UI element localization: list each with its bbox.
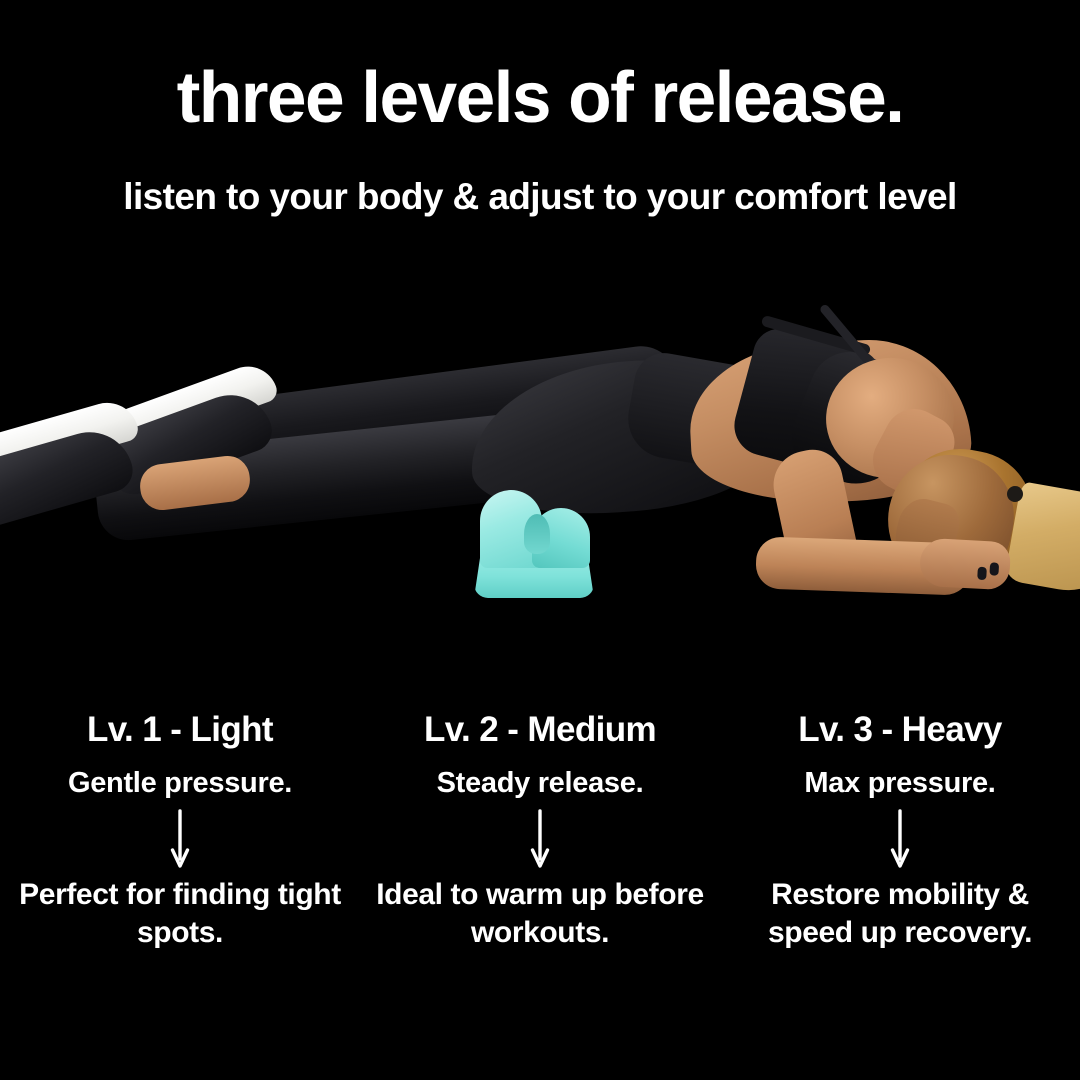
teal-massage-tool	[474, 492, 594, 598]
level-2-title: Lv. 2 - Medium	[360, 712, 720, 747]
level-1-arrow-wrap	[0, 798, 360, 876]
hand	[919, 538, 1011, 591]
level-2-subtitle: Steady release.	[360, 747, 720, 798]
hero-photo	[0, 300, 1080, 630]
level-1-subtitle: Gentle pressure.	[0, 747, 360, 798]
level-2-detail: Ideal to warm up before workouts.	[360, 876, 720, 953]
level-column-2: Lv. 2 - Medium Steady release. Ideal to …	[360, 712, 720, 953]
fingernail	[989, 562, 999, 575]
level-column-3: Lv. 3 - Heavy Max pressure. Restore mobi…	[720, 712, 1080, 953]
tool-center-notch	[524, 514, 550, 554]
levels-row: Lv. 1 - Light Gentle pressure. Perfect f…	[0, 712, 1080, 953]
level-1-detail: Perfect for finding tight spots.	[0, 876, 360, 953]
down-arrow-icon	[167, 809, 193, 871]
page-title: three levels of release.	[5, 62, 1074, 134]
level-3-arrow-wrap	[720, 798, 1080, 876]
down-arrow-icon	[887, 809, 913, 871]
page-subtitle: listen to your body & adjust to your com…	[0, 134, 1080, 215]
headline-block: three levels of release. listen to your …	[0, 0, 1080, 215]
level-3-title: Lv. 3 - Heavy	[720, 712, 1080, 747]
level-1-title: Lv. 1 - Light	[0, 712, 360, 747]
hair-tie	[1007, 486, 1023, 502]
level-2-arrow-wrap	[360, 798, 720, 876]
fingernail	[977, 567, 987, 580]
level-3-detail: Restore mobility & speed up recovery.	[720, 876, 1080, 953]
down-arrow-icon	[527, 809, 553, 871]
level-column-1: Lv. 1 - Light Gentle pressure. Perfect f…	[0, 712, 360, 953]
product-infographic-poster: three levels of release. listen to your …	[0, 0, 1080, 1080]
level-3-subtitle: Max pressure.	[720, 747, 1080, 798]
